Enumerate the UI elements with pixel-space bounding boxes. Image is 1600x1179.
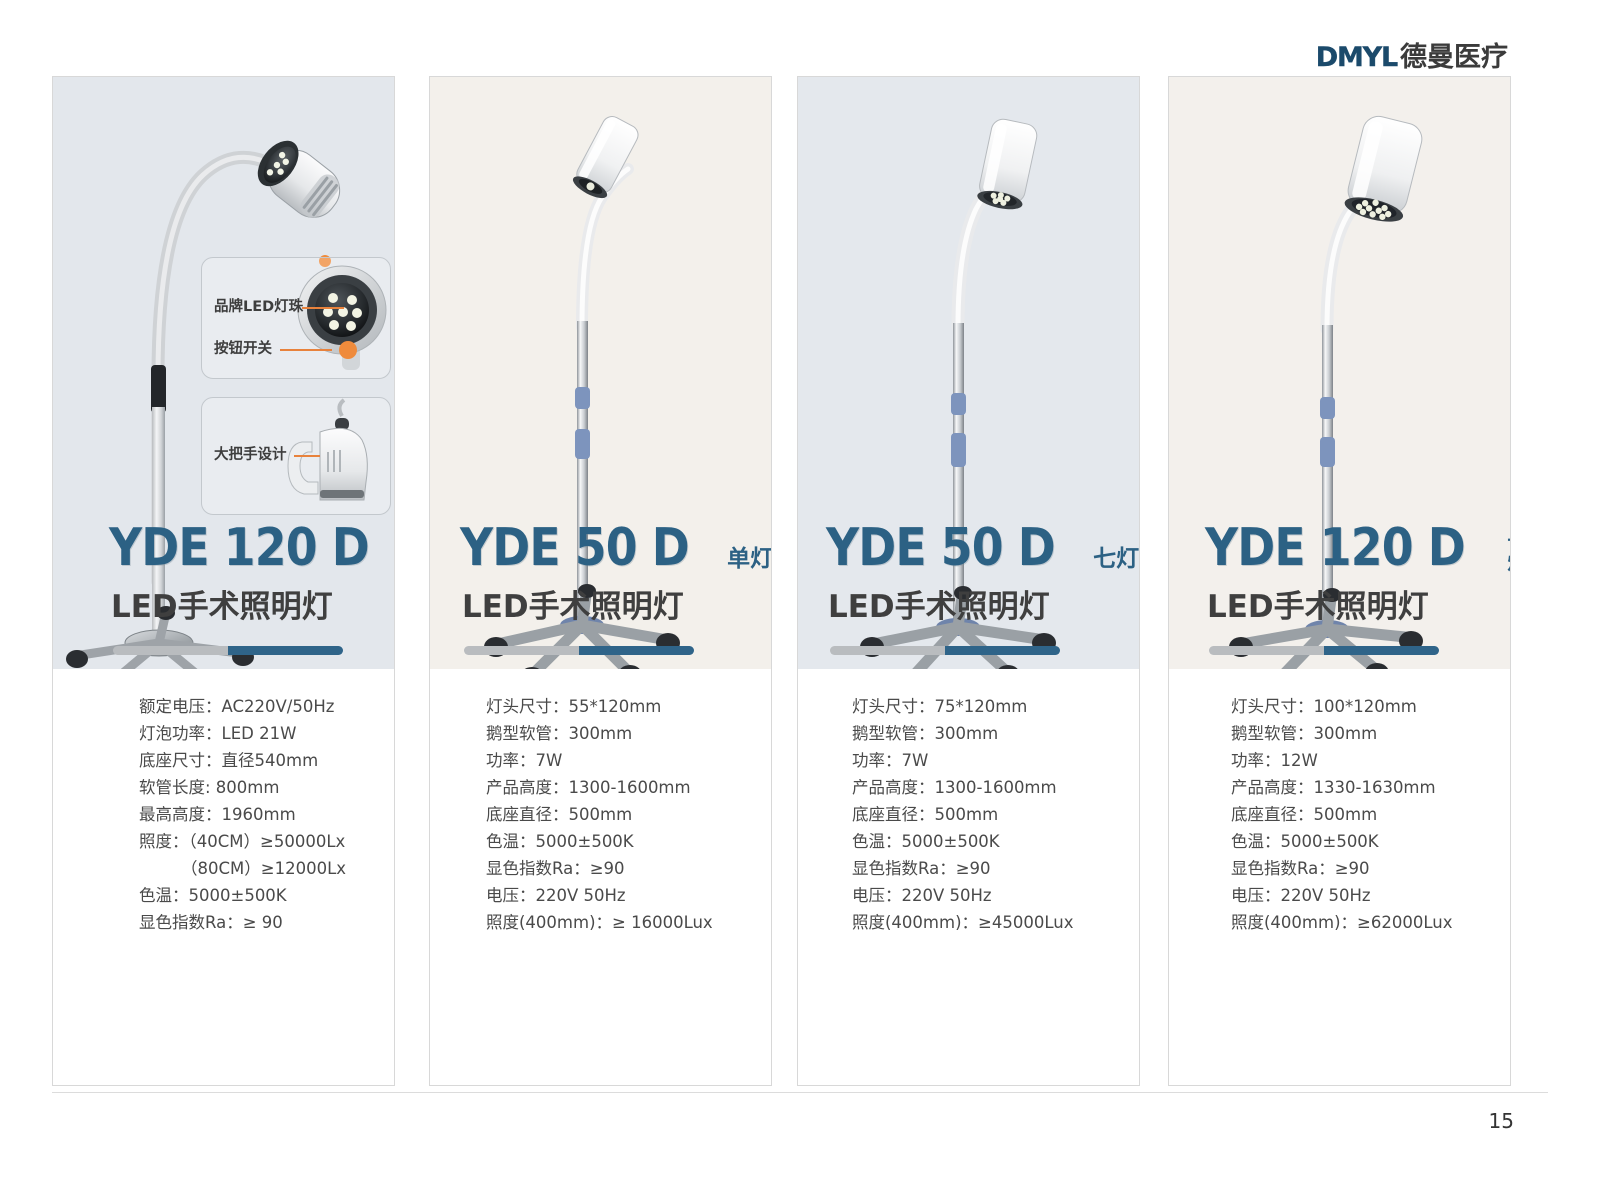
model-name-1: YDE 120 D [109, 522, 369, 574]
card-divider-1 [113, 646, 343, 655]
spec-row: 功率：7W [486, 753, 771, 780]
leader-line-led-beads [302, 307, 344, 309]
divider-segment-gray [464, 646, 579, 655]
spec-row: 照度：（40CM）≥50000Lx [139, 834, 394, 861]
card-divider-3 [830, 646, 1060, 655]
spec-row: 电压：220V 50Hz [852, 888, 1139, 915]
spec-row: 照度(400mm)：≥45000Lux [852, 915, 1139, 942]
spec-row: 鹅型软管：300mm [486, 726, 771, 753]
model-row-3: YDE 50 D 七灯珠 [798, 522, 1139, 574]
spec-row: 照度(400mm)：≥ 16000Lux [486, 915, 771, 942]
product-card-grid: 品牌LED灯珠 按钮开关 [0, 76, 1600, 1086]
spec-row: 显色指数Ra：≥90 [1231, 861, 1510, 888]
lamp-head-detail-icon [202, 258, 390, 378]
callout-box-handle: 大把手设计 [201, 397, 391, 515]
spec-row: 灯头尺寸：55*120mm [486, 699, 771, 726]
card-spec-panel-3: 灯头尺寸：75*120mm 鹅型软管：300mm 功率：7W 产品高度：1300… [798, 669, 1139, 1085]
card-subtitle-3: LED手术照明灯 [798, 592, 1139, 623]
product-card-yde120d[interactable]: 品牌LED灯珠 按钮开关 [52, 76, 395, 1086]
card-headline-4: YDE 120 D 十二 灯珠 LED手术照明灯 [1169, 522, 1510, 669]
card-subtitle-2: LED手术照明灯 [430, 592, 771, 623]
spec-row: 额定电压：AC220V/50Hz [139, 699, 394, 726]
spec-row: （80CM）≥12000Lx [139, 861, 394, 888]
model-beads-label-2: 单灯珠 [727, 548, 772, 571]
footer-divider [52, 1092, 1548, 1093]
spec-row: 色温：5000±500K [139, 888, 394, 915]
product-card-yde50d-single[interactable]: YDE 50 D 单灯珠 LED手术照明灯 灯头尺寸：55*120mm 鹅型软管… [429, 76, 772, 1086]
spec-row: 产品高度：1330-1630mm [1231, 780, 1510, 807]
model-beads-label-3: 七灯珠 [1093, 548, 1140, 571]
divider-segment-blue [1324, 646, 1439, 655]
spec-row: 灯泡功率：LED 21W [139, 726, 394, 753]
model-beads-label-4: 十二 灯珠 [1507, 531, 1511, 572]
product-image-yde120d-twelve: YDE 120 D 十二 灯珠 LED手术照明灯 [1169, 77, 1510, 669]
spec-row: 产品高度：1300-1600mm [486, 780, 771, 807]
leader-line-button-switch [280, 349, 332, 351]
divider-segment-blue [228, 646, 343, 655]
spec-list-4: 灯头尺寸：100*120mm 鹅型软管：300mm 功率：12W 产品高度：13… [1169, 699, 1510, 942]
spec-row: 底座直径：500mm [852, 807, 1139, 834]
card-headline-2: YDE 50 D 单灯珠 LED手术照明灯 [430, 522, 771, 669]
card-spec-panel-2: 灯头尺寸：55*120mm 鹅型软管：300mm 功率：7W 产品高度：1300… [430, 669, 771, 1085]
card-headline-3: YDE 50 D 七灯珠 LED手术照明灯 [798, 522, 1139, 669]
divider-segment-blue [579, 646, 694, 655]
brand-logo-latin: DMYL [1316, 44, 1397, 71]
spec-row: 电压：220V 50Hz [486, 888, 771, 915]
card-subtitle-1: LED手术照明灯 [53, 592, 394, 623]
spec-row: 底座直径：500mm [1231, 807, 1510, 834]
model-name-3: YDE 50 D [826, 522, 1055, 574]
product-card-yde120d-twelve[interactable]: YDE 120 D 十二 灯珠 LED手术照明灯 灯头尺寸：100* [1168, 76, 1511, 1086]
page-number: 15 [1489, 1109, 1514, 1133]
callout-label-led-beads: 品牌LED灯珠 [214, 300, 303, 315]
spec-row: 功率：7W [852, 753, 1139, 780]
model-name-4: YDE 120 D [1205, 522, 1465, 574]
brand-logo-chinese: 德曼医疗 [1400, 44, 1508, 71]
product-image-yde120d: 品牌LED灯珠 按钮开关 [53, 77, 394, 669]
spec-row: 鹅型软管：300mm [852, 726, 1139, 753]
spec-row: 底座尺寸：直径540mm [139, 753, 394, 780]
divider-segment-gray [830, 646, 945, 655]
spec-row: 产品高度：1300-1600mm [852, 780, 1139, 807]
product-image-yde50d-single: YDE 50 D 单灯珠 LED手术照明灯 [430, 77, 771, 669]
spec-row: 底座直径：500mm [486, 807, 771, 834]
spec-row: 最高高度：1960mm [139, 807, 394, 834]
spec-row: 软管长度: 800mm [139, 780, 394, 807]
card-spec-panel-4: 灯头尺寸：100*120mm 鹅型软管：300mm 功率：12W 产品高度：13… [1169, 669, 1510, 1085]
model-beads-line2: 灯珠 [1507, 552, 1511, 572]
card-headline-1: YDE 120 D LED手术照明灯 [53, 522, 394, 669]
spec-row: 显色指数Ra：≥90 [852, 861, 1139, 888]
model-name-2: YDE 50 D [460, 522, 689, 574]
product-card-yde50d-seven[interactable]: YDE 50 D 七灯珠 LED手术照明灯 灯头尺寸：75*120mm 鹅型软管… [797, 76, 1140, 1086]
callout-label-large-handle: 大把手设计 [214, 448, 287, 463]
spec-row: 电压：220V 50Hz [1231, 888, 1510, 915]
product-image-yde50d-seven: YDE 50 D 七灯珠 LED手术照明灯 [798, 77, 1139, 669]
spec-row: 色温：5000±500K [486, 834, 771, 861]
callout-label-button-switch: 按钮开关 [214, 342, 272, 357]
model-row-1: YDE 120 D [53, 522, 394, 574]
spec-row: 色温：5000±500K [852, 834, 1139, 861]
callout-box-features: 品牌LED灯珠 按钮开关 [201, 257, 391, 379]
brand-logo: DMYL 德曼医疗 [1316, 44, 1508, 71]
catalog-page: DMYL 德曼医疗 [0, 0, 1600, 1179]
model-row-4: YDE 120 D 十二 灯珠 [1169, 522, 1510, 574]
spec-list-3: 灯头尺寸：75*120mm 鹅型软管：300mm 功率：7W 产品高度：1300… [798, 699, 1139, 942]
spec-row: 显色指数Ra：≥ 90 [139, 915, 394, 942]
card-spec-panel-1: 额定电压：AC220V/50Hz 灯泡功率：LED 21W 底座尺寸：直径540… [53, 669, 394, 1085]
spec-row: 灯头尺寸：75*120mm [852, 699, 1139, 726]
spec-row: 鹅型软管：300mm [1231, 726, 1510, 753]
model-row-2: YDE 50 D 单灯珠 [430, 522, 771, 574]
spec-row: 功率：12W [1231, 753, 1510, 780]
spec-row: 色温：5000±500K [1231, 834, 1510, 861]
card-divider-4 [1209, 646, 1439, 655]
spec-list-1: 额定电压：AC220V/50Hz 灯泡功率：LED 21W 底座尺寸：直径540… [53, 699, 394, 942]
spec-row: 照度(400mm)：≥62000Lux [1231, 915, 1510, 942]
card-divider-2 [464, 646, 694, 655]
spec-row: 灯头尺寸：100*120mm [1231, 699, 1510, 726]
divider-segment-gray [113, 646, 228, 655]
divider-segment-gray [1209, 646, 1324, 655]
divider-segment-blue [945, 646, 1060, 655]
leader-line-large-handle [294, 455, 320, 457]
spec-list-2: 灯头尺寸：55*120mm 鹅型软管：300mm 功率：7W 产品高度：1300… [430, 699, 771, 942]
card-subtitle-4: LED手术照明灯 [1169, 592, 1510, 623]
spec-row: 显色指数Ra：≥90 [486, 861, 771, 888]
model-beads-line1: 十二 [1507, 531, 1511, 551]
